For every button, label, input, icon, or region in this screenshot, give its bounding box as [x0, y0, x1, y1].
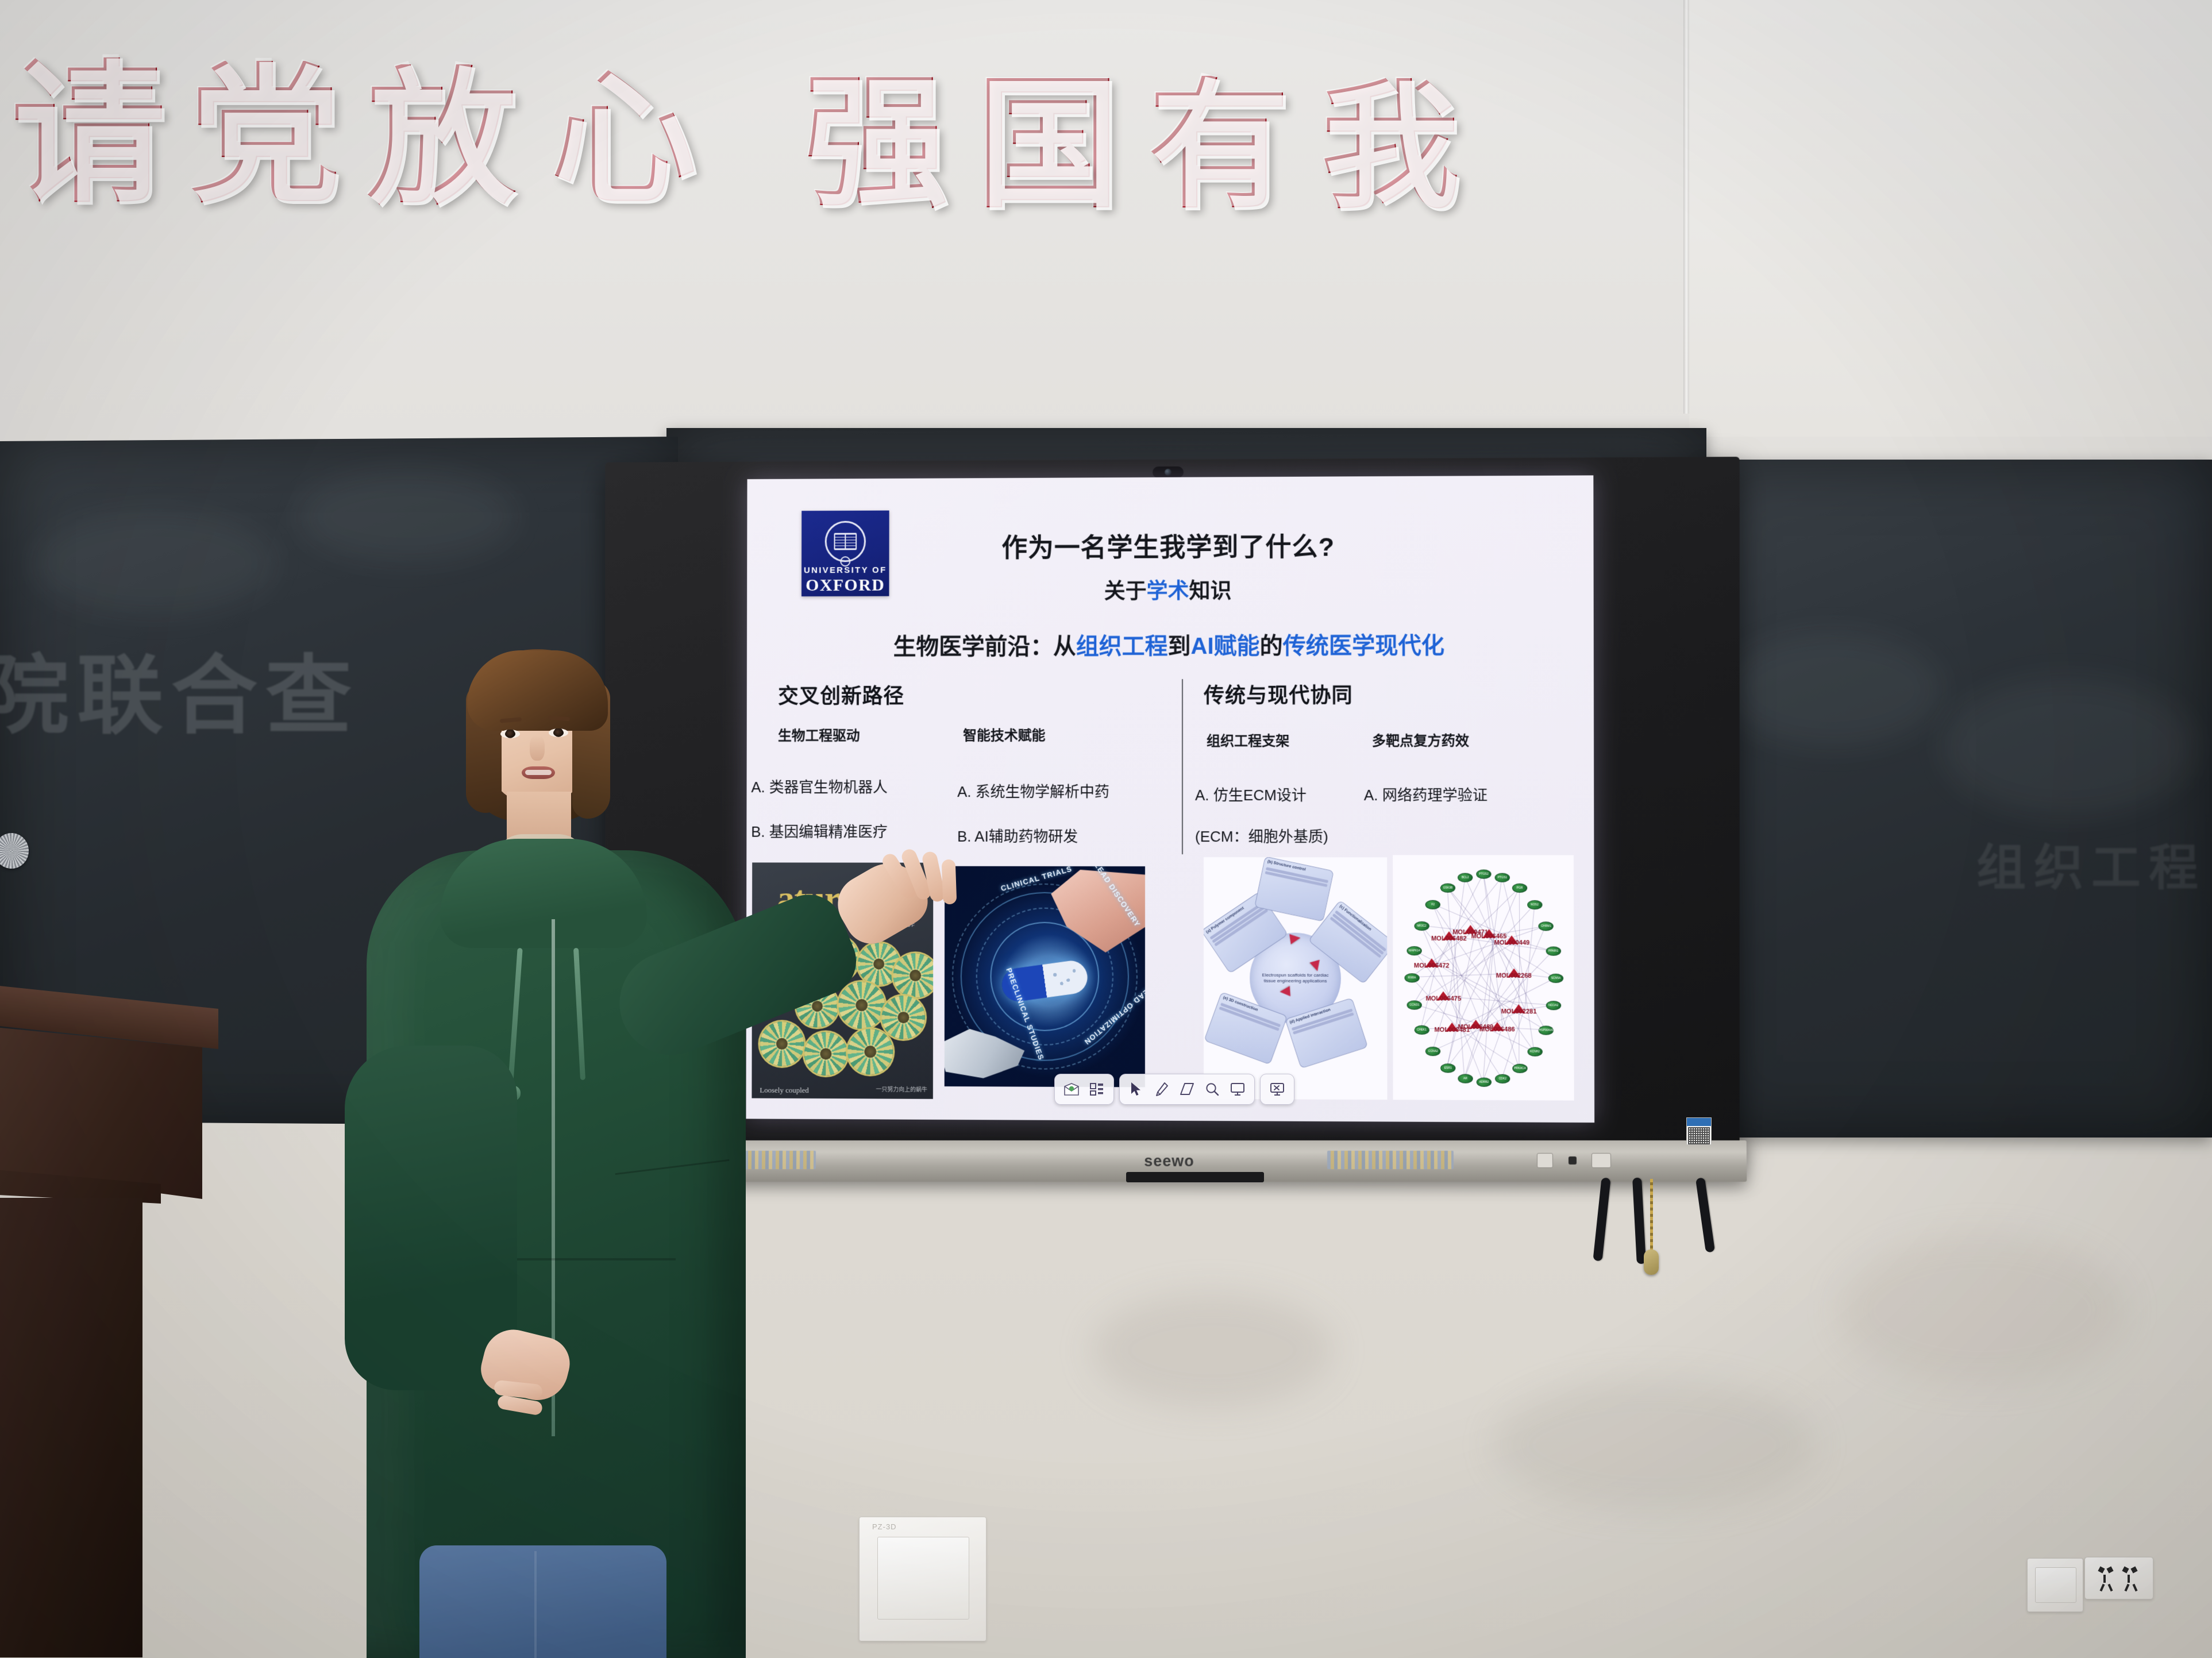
figure-ai-drug-discovery: CLINICAL TRIALS LEAD DISCOVERY LEAD OPTI… [945, 866, 1145, 1088]
compound-node-label: MOL006481 [1434, 1027, 1470, 1034]
bullet-right-a1: A. 仿生ECM设计 [1195, 784, 1307, 805]
wall-smudge [1494, 1379, 1816, 1511]
compound-node-label: MOL002268 [1496, 973, 1532, 980]
magnifier-icon[interactable] [1201, 1078, 1224, 1101]
screen-icon[interactable] [1226, 1078, 1249, 1101]
network-gene-node: PRKACA [1512, 1064, 1527, 1073]
compound-node-label: MOL002281 [1501, 1008, 1537, 1015]
presenter-eye-right [549, 728, 568, 737]
network-gene-node: CHEK1 [1414, 1025, 1429, 1035]
column-heading-right: 传统与现代协同 [1204, 679, 1353, 709]
toolbar-group-left[interactable] [1054, 1074, 1114, 1105]
cursor-icon[interactable] [1125, 1078, 1148, 1101]
gene-node-label: BCL2 [1462, 876, 1469, 880]
wall-switch-secondary[interactable] [2027, 1558, 2083, 1612]
network-compound-node: MOL000449 [1494, 937, 1530, 947]
gene-node-label: PGR [1517, 886, 1523, 890]
network-gene-node: NCOA2 [1546, 1001, 1561, 1010]
gene-node-label: PTGS1 [1498, 876, 1508, 880]
seewo-brand-label: seewo [1144, 1152, 1194, 1170]
panel-ir-sensor [1569, 1156, 1577, 1165]
network-gene-node: CHRM1 [1539, 921, 1554, 931]
figure-scaffold-wheel: Electrospun scaffolds for cardiac tissue… [1204, 857, 1387, 1100]
headline-p3: 的 [1260, 634, 1283, 659]
headline-h2: AI赋能 [1191, 634, 1260, 659]
gene-node-label: CDK2 [1499, 1077, 1506, 1081]
gene-node-label: NCOA2 [1548, 1004, 1558, 1007]
eraser-icon[interactable] [1176, 1078, 1199, 1101]
gene-node-label: F2 [1431, 903, 1435, 906]
switch-model-code: PZ-3D [872, 1522, 897, 1531]
headline-h1: 组织工程 [1076, 634, 1168, 659]
network-gene-node: CDK2 [1495, 1074, 1510, 1084]
subhead-intelligent-tech: 智能技术赋能 [963, 724, 1045, 744]
panel-usb-port[interactable] [1591, 1153, 1611, 1168]
subhead-multitarget: 多靶点复方药效 [1372, 730, 1469, 750]
bullet-right-a2: A. 网络药理学验证 [1364, 784, 1487, 805]
gene-node-label: ADRB2 [1479, 1081, 1489, 1084]
network-gene-node: BCL2 [1458, 873, 1473, 882]
lectern-podium [0, 997, 230, 1658]
gene-node-label: KCNH2 [1530, 1050, 1540, 1054]
network-gene-node: PTGS1 [1495, 873, 1510, 882]
wall-light-switch[interactable]: PZ-3D [859, 1517, 986, 1641]
envelope-icon[interactable] [1060, 1078, 1083, 1101]
network-gene-node: ADRB2 [1477, 1078, 1492, 1087]
subtitle-highlight: 学术 [1147, 579, 1189, 603]
wall-power-outlet[interactable] [2084, 1557, 2153, 1599]
column-divider [1182, 679, 1183, 854]
gene-node-label: CCNA2 [1428, 1050, 1438, 1053]
present-exit-icon[interactable] [1266, 1078, 1289, 1101]
network-compound-node: MOL002281 [1501, 1006, 1537, 1016]
compound-node-label: MOL000471 [1452, 929, 1488, 936]
panel-camera-icon [1153, 466, 1184, 478]
network-gene-node: PPARG [1546, 947, 1560, 956]
grid-list-icon[interactable] [1085, 1078, 1108, 1101]
network-gene-node: HSP90AA1 [1539, 1025, 1554, 1035]
gene-node-label: PPARG [1548, 950, 1558, 953]
headline-h3: 传统医学 [1283, 633, 1375, 658]
subtitle-suffix: 知识 [1189, 579, 1232, 603]
network-compound-node: MOL006475 [1425, 993, 1461, 1003]
network-compound-node: MOL006472 [1414, 960, 1450, 970]
oxford-university-label: UNIVERSITY OF [801, 565, 889, 575]
network-compound-node: MOL006481 [1434, 1024, 1470, 1035]
network-compound-node: MOL000471 [1452, 927, 1488, 937]
scaffold-center-text: Electrospun scaffolds for cardiac tissue… [1261, 973, 1329, 984]
presenter-eye-left [500, 730, 520, 738]
screenshot-root: 请 党 放 心 强 国 有 我 院联合查 组织工程 UNIVERSITY OF … [0, 0, 2212, 1658]
gene-node-label: CCND1 [1409, 1003, 1419, 1007]
gene-node-label: PTGS2 [1479, 873, 1489, 876]
bullet-left-b2: B. AI辅助药物研发 [957, 825, 1078, 846]
bullet-left-a2: A. 系统生物学解析中药 [957, 780, 1109, 801]
network-gene-node: PGR [1512, 884, 1527, 893]
network-gene-node: PTGS2 [1476, 870, 1491, 879]
network-gene-node: NR3C2 [1414, 921, 1429, 931]
gene-node-label: MAPK14 [1409, 949, 1420, 953]
network-gene-node: MAPK14 [1407, 946, 1422, 955]
subhead-scaffold: 组织工程支架 [1207, 730, 1289, 750]
blackboard-right: 组织工程 [1701, 460, 2212, 1138]
network-edge [1519, 888, 1520, 974]
compound-node-label: MOL000449 [1494, 939, 1530, 946]
presenter-hood [440, 839, 647, 948]
pen-icon[interactable] [1150, 1078, 1173, 1101]
wall-smudge [1092, 1293, 1333, 1408]
hanging-pendant [1644, 1250, 1659, 1275]
network-gene-node: SCN5A [1548, 974, 1563, 983]
network-gene-node: ESR1 [1440, 1063, 1455, 1073]
network-compound-node: MOL002268 [1496, 970, 1532, 981]
network-gene-node: CCND1 [1407, 1000, 1422, 1009]
gene-node-label: HSP90AA1 [1539, 1028, 1554, 1032]
speaker-grill-right [1327, 1151, 1454, 1169]
gene-node-label: NOS2 [1531, 903, 1539, 907]
figure-network-pharmacology: PTGS2PTGS1PGRNOS2CHRM1PPARGSCN5ANCOA2HSP… [1393, 855, 1574, 1100]
gene-node-label: CHEK1 [1417, 1028, 1427, 1032]
network-gene-node: GSK3B [1440, 884, 1455, 893]
network-gene-node: F2 [1425, 900, 1440, 909]
slide-title: 作为一名学生我学到了什么? [747, 525, 1593, 565]
wall-right-panel [1689, 0, 2212, 437]
presenter [305, 649, 879, 1658]
presenter-nose [530, 735, 545, 761]
headline-p2: 到 [1168, 634, 1191, 659]
nature-cn-caption: 一只努力向上的蜗牛 [876, 1085, 927, 1093]
compound-node-label: MOL006475 [1425, 995, 1461, 1002]
network-edge [1524, 904, 1535, 1009]
panel-power-button[interactable] [1537, 1153, 1553, 1168]
panel-wall-mount-bracket [1126, 1172, 1264, 1182]
slide-subtitle: 关于学术知识 [747, 572, 1594, 606]
panel-qr-sticker [1686, 1117, 1712, 1145]
switch-rocker[interactable] [877, 1537, 969, 1620]
ppt-presentation-toolbar[interactable] [1054, 1073, 1294, 1105]
gene-node-label: SCN5A [1551, 977, 1561, 980]
wall-smudge [1839, 1235, 2126, 1385]
network-gene-node: AR [1458, 1074, 1473, 1083]
toolbar-group-exit[interactable] [1260, 1074, 1294, 1105]
network-gene-node: RXRA [1405, 973, 1420, 982]
network-gene-node: CCNA2 [1425, 1047, 1440, 1056]
chalk-text-right: 组织工程 [1976, 827, 2206, 899]
subtitle-prefix: 关于 [1104, 579, 1147, 603]
presenter-jeans [419, 1545, 666, 1658]
headline-h4: 现代化 [1375, 633, 1444, 658]
gene-node-label: PRKACA [1514, 1067, 1526, 1070]
presenter-mouth [522, 766, 555, 779]
network-gene-node: NOS2 [1527, 900, 1542, 909]
podium-body [0, 1198, 142, 1657]
presenter-hair-front [467, 650, 608, 731]
gene-node-label: CHRM1 [1541, 924, 1551, 928]
gene-node-label: AR [1463, 1077, 1467, 1080]
hanging-chain [1650, 1179, 1653, 1254]
network-gene-node: KCNH2 [1527, 1047, 1542, 1057]
switch-rocker[interactable] [2035, 1567, 2076, 1603]
gene-node-label: RXRA [1408, 976, 1416, 980]
compound-node-label: MOL006472 [1414, 962, 1450, 969]
gene-node-label: ESR1 [1444, 1066, 1452, 1070]
toolbar-group-tools[interactable] [1119, 1074, 1255, 1105]
headline-p1: 生物医学前沿：从 [893, 634, 1076, 660]
gene-node-label: NR3C2 [1417, 924, 1427, 928]
bullet-right-ecm-note: (ECM：细胞外基质) [1195, 825, 1328, 846]
gene-node-label: GSK3B [1443, 886, 1453, 890]
wall-corner-seam [1683, 0, 1689, 414]
